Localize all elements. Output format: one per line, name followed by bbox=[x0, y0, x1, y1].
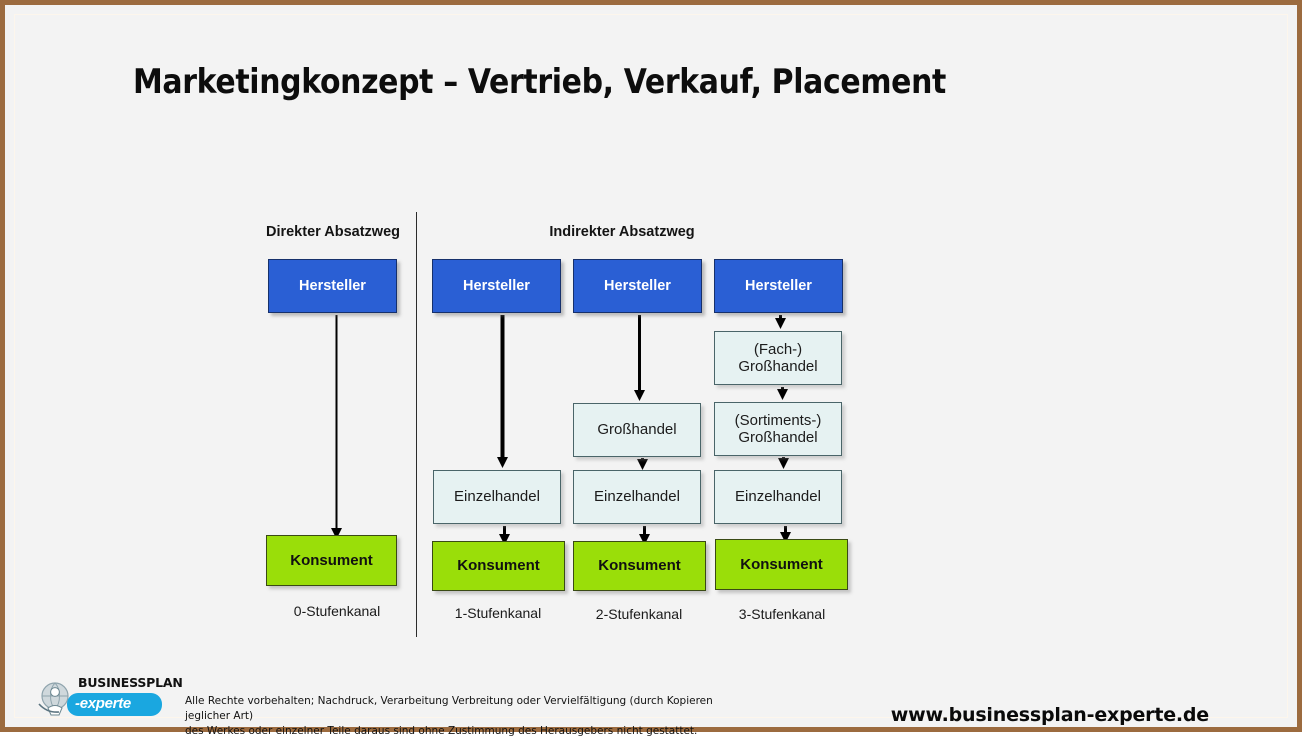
node-consumer: Konsument bbox=[266, 535, 397, 586]
copyright-line-2: des Werkes oder einzelner Teile daraus s… bbox=[185, 724, 755, 739]
node-trade: (Sortiments-) Großhandel bbox=[714, 402, 842, 456]
channel-label: 1-Stufenkanal bbox=[432, 605, 564, 621]
node-trade: Einzelhandel bbox=[714, 470, 842, 524]
businessplan-experte-logo[interactable]: BUSINESSPLAN -experte bbox=[35, 673, 163, 721]
node-trade: Einzelhandel bbox=[573, 470, 701, 524]
slide-canvas: Marketingkonzept – Vertrieb, Verkauf, Pl… bbox=[0, 0, 1302, 732]
copyright-line-1: Alle Rechte vorbehalten; Nachdruck, Vera… bbox=[185, 694, 755, 724]
distribution-channel-diagram: Direkter AbsatzwegIndirekter AbsatzwegHe… bbox=[5, 5, 1302, 737]
node-consumer: Konsument bbox=[432, 541, 565, 591]
flow-arrow bbox=[494, 315, 511, 468]
node-manufacturer: Hersteller bbox=[714, 259, 843, 313]
channel-label: 0-Stufenkanal bbox=[269, 603, 405, 619]
node-trade: (Fach-) Großhandel bbox=[714, 331, 842, 385]
flow-arrow bbox=[634, 458, 651, 470]
node-manufacturer: Hersteller bbox=[268, 259, 397, 313]
node-manufacturer: Hersteller bbox=[573, 259, 702, 313]
flow-arrow bbox=[774, 387, 791, 400]
channel-label: 2-Stufenkanal bbox=[573, 606, 705, 622]
node-trade: Einzelhandel bbox=[433, 470, 561, 524]
logo-wordmark: BUSINESSPLAN bbox=[78, 675, 183, 690]
copyright-notice: Alle Rechte vorbehalten; Nachdruck, Vera… bbox=[185, 694, 755, 740]
channel-label: 3-Stufenkanal bbox=[714, 606, 850, 622]
node-trade: Großhandel bbox=[573, 403, 701, 457]
logo-pill: -experte bbox=[67, 693, 162, 716]
flow-arrow bbox=[775, 457, 792, 469]
column-heading-1: Direkter Absatzweg bbox=[263, 224, 403, 240]
node-consumer: Konsument bbox=[715, 539, 848, 590]
node-consumer: Konsument bbox=[573, 541, 706, 591]
site-url: www.businessplan-experte.de bbox=[891, 704, 1209, 726]
section-divider bbox=[416, 212, 417, 637]
flow-arrow bbox=[328, 315, 345, 539]
column-heading-2: Indirekter Absatzweg bbox=[542, 224, 702, 240]
node-manufacturer: Hersteller bbox=[432, 259, 561, 313]
flow-arrow bbox=[631, 315, 648, 401]
flow-arrow bbox=[772, 315, 789, 329]
logo-pill-text: -experte bbox=[75, 695, 131, 712]
